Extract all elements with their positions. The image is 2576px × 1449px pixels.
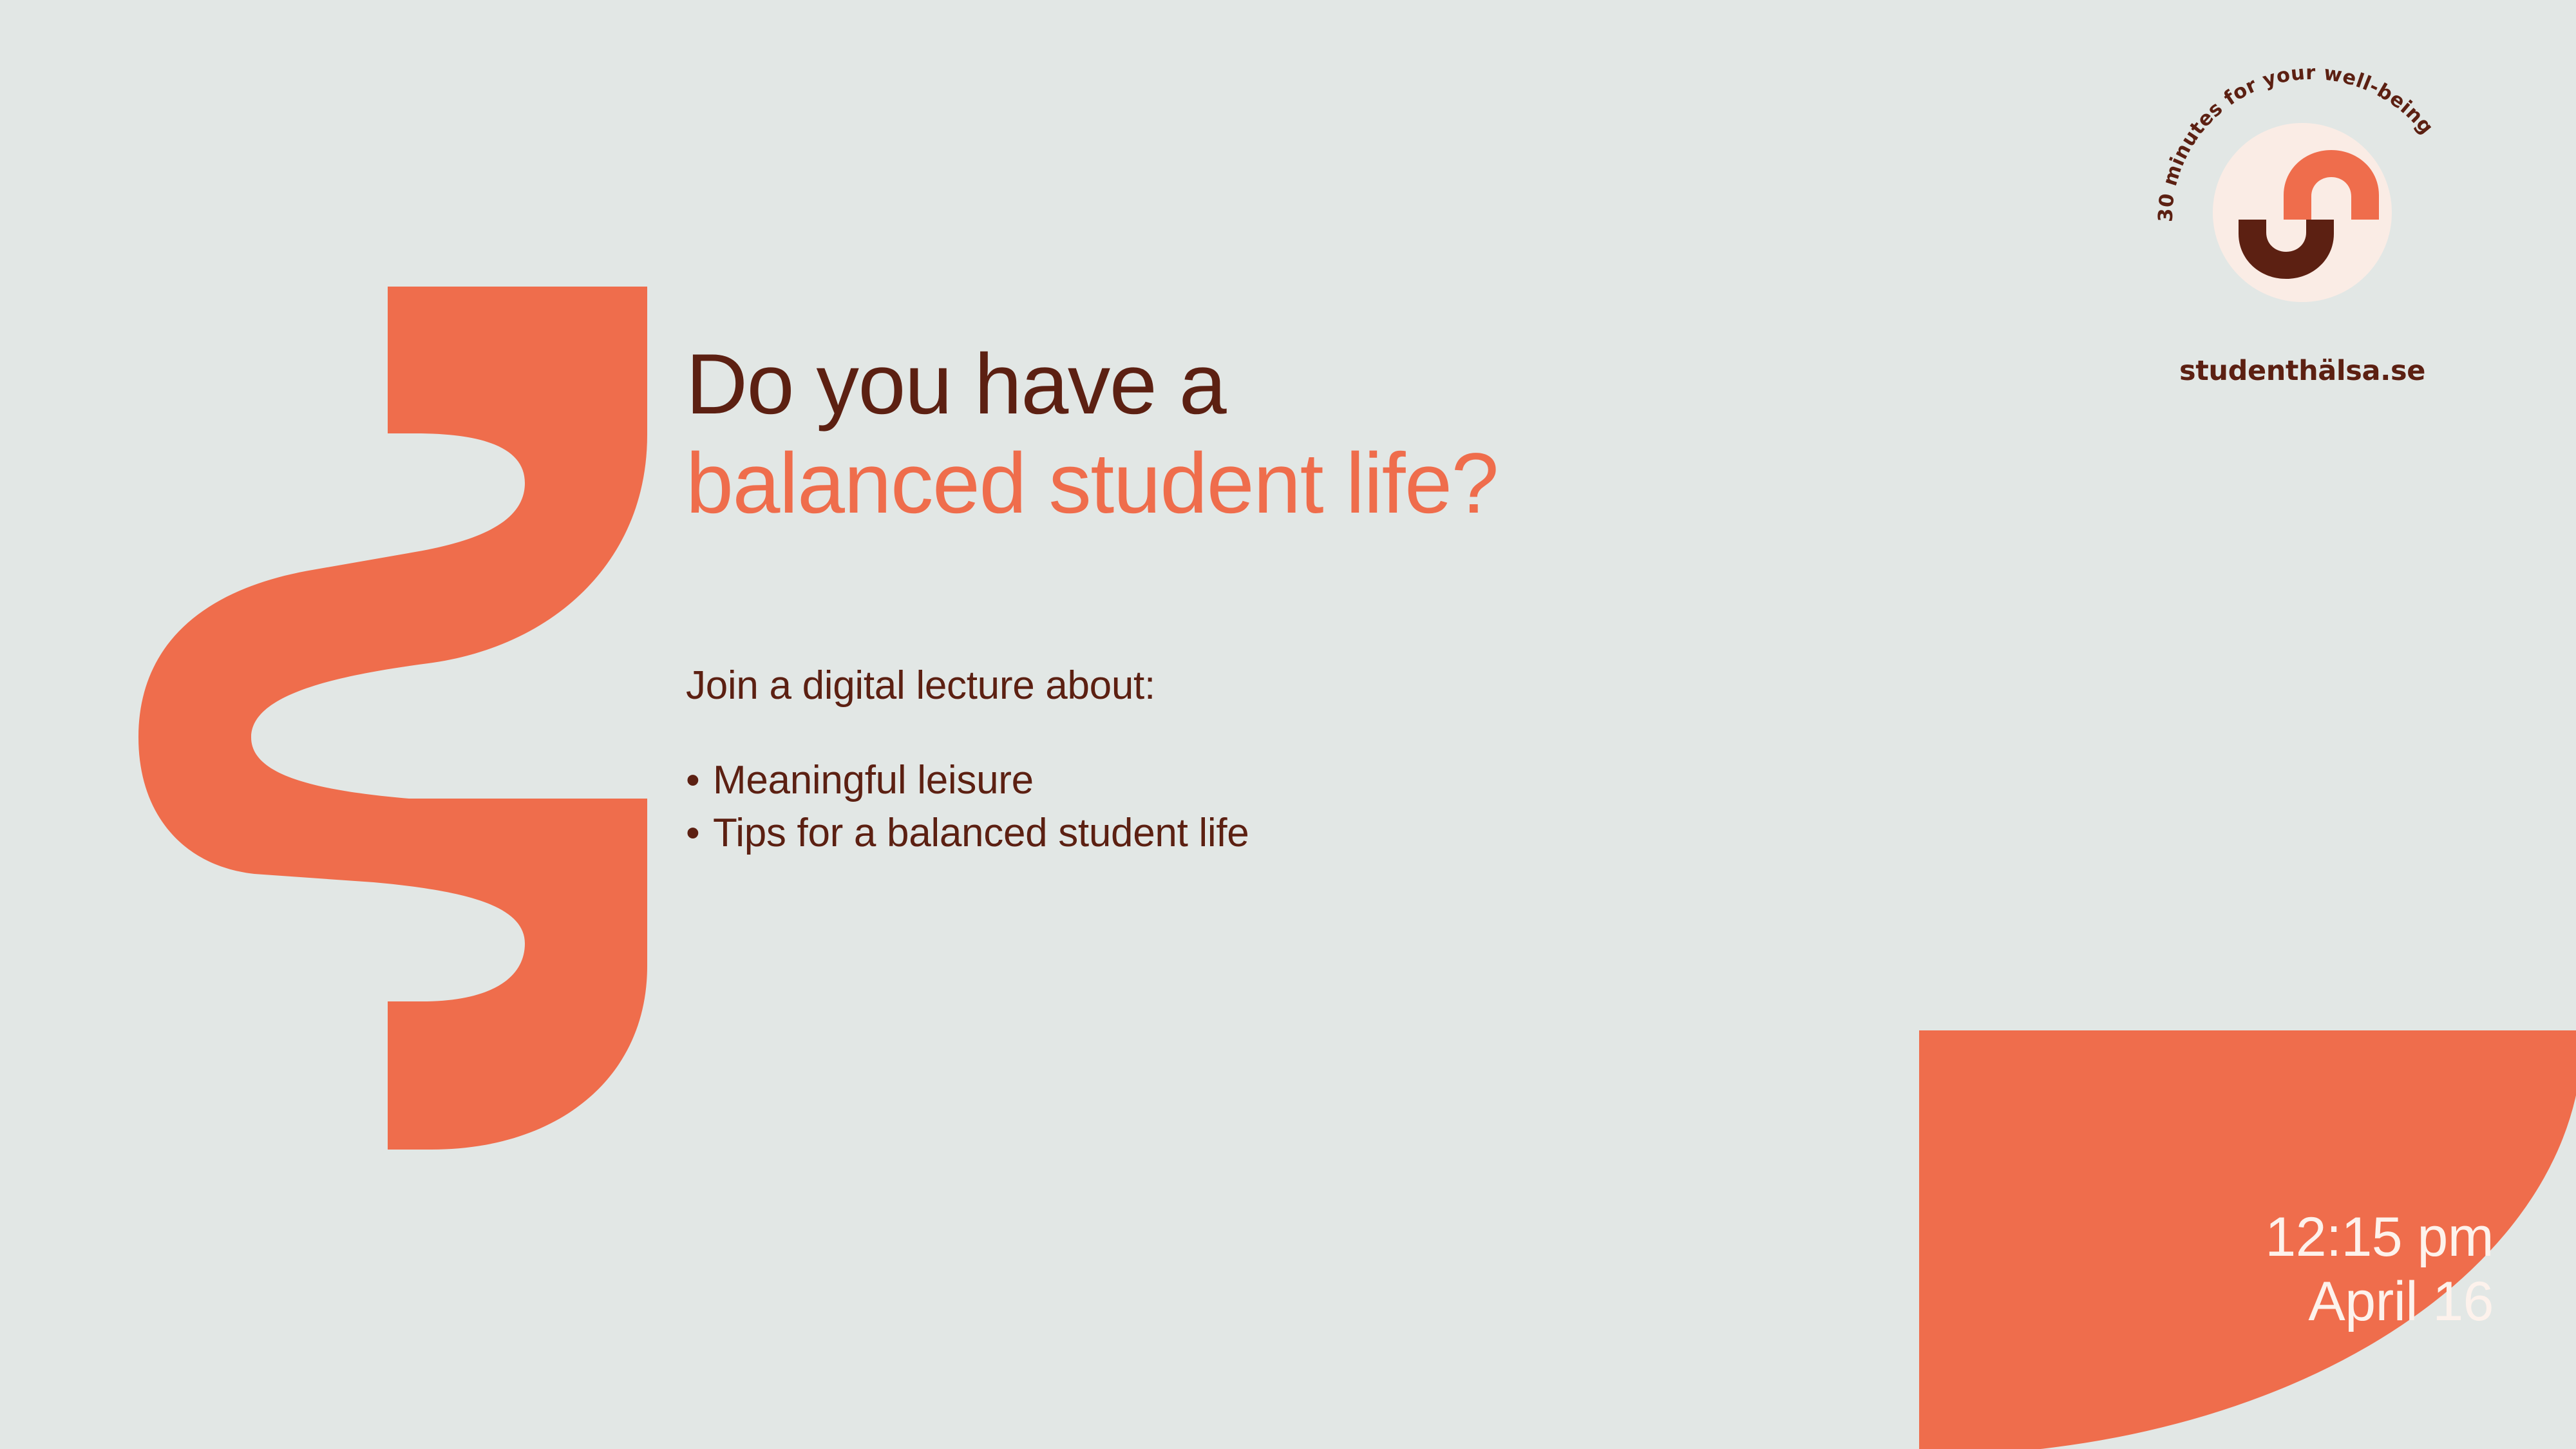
topic-list: Meaningful leisure Tips for a balanced s… bbox=[686, 754, 2103, 860]
page-title: Do you have a balanced student life? bbox=[686, 335, 2103, 534]
site-url[interactable]: studenthälsa.se bbox=[2151, 355, 2454, 387]
headline-line-2: balanced student life? bbox=[686, 434, 2103, 533]
event-date: April 16 bbox=[2265, 1269, 2494, 1334]
studenthalsa-s-mark-icon bbox=[2213, 123, 2392, 302]
list-item: Meaningful leisure bbox=[686, 754, 2103, 807]
wellbeing-badge: 30 minutes for your well-being bbox=[2151, 61, 2454, 364]
headline-line-1: Do you have a bbox=[686, 335, 2103, 434]
event-info: 12:15 pm April 16 bbox=[2265, 1205, 2494, 1334]
lead-text: Join a digital lecture about: bbox=[686, 660, 2103, 712]
large-s-mark-icon bbox=[138, 287, 647, 1150]
main-content: Do you have a balanced student life? Joi… bbox=[686, 335, 2103, 860]
poster-canvas: 12:15 pm April 16 Do you have a balanced… bbox=[0, 0, 2576, 1449]
event-time: 12:15 pm bbox=[2265, 1205, 2494, 1270]
list-item: Tips for a balanced student life bbox=[686, 807, 2103, 860]
